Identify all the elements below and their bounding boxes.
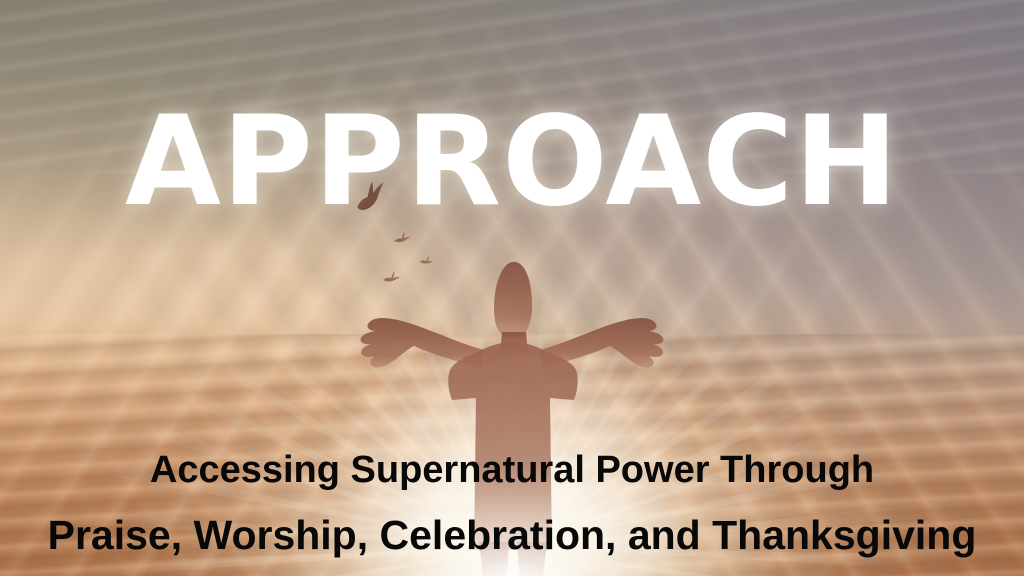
subtitle-line-2: Praise, Worship, Celebration, and Thanks…: [0, 503, 1024, 568]
slide-subtitle: Accessing Supernatural Power Through Pra…: [0, 438, 1024, 568]
slide-title: APPROACH: [0, 99, 1024, 225]
slide-canvas: APPROACH Accessing Supernatural Power Th…: [0, 0, 1024, 576]
subtitle-line-1: Accessing Supernatural Power Through: [0, 438, 1024, 503]
